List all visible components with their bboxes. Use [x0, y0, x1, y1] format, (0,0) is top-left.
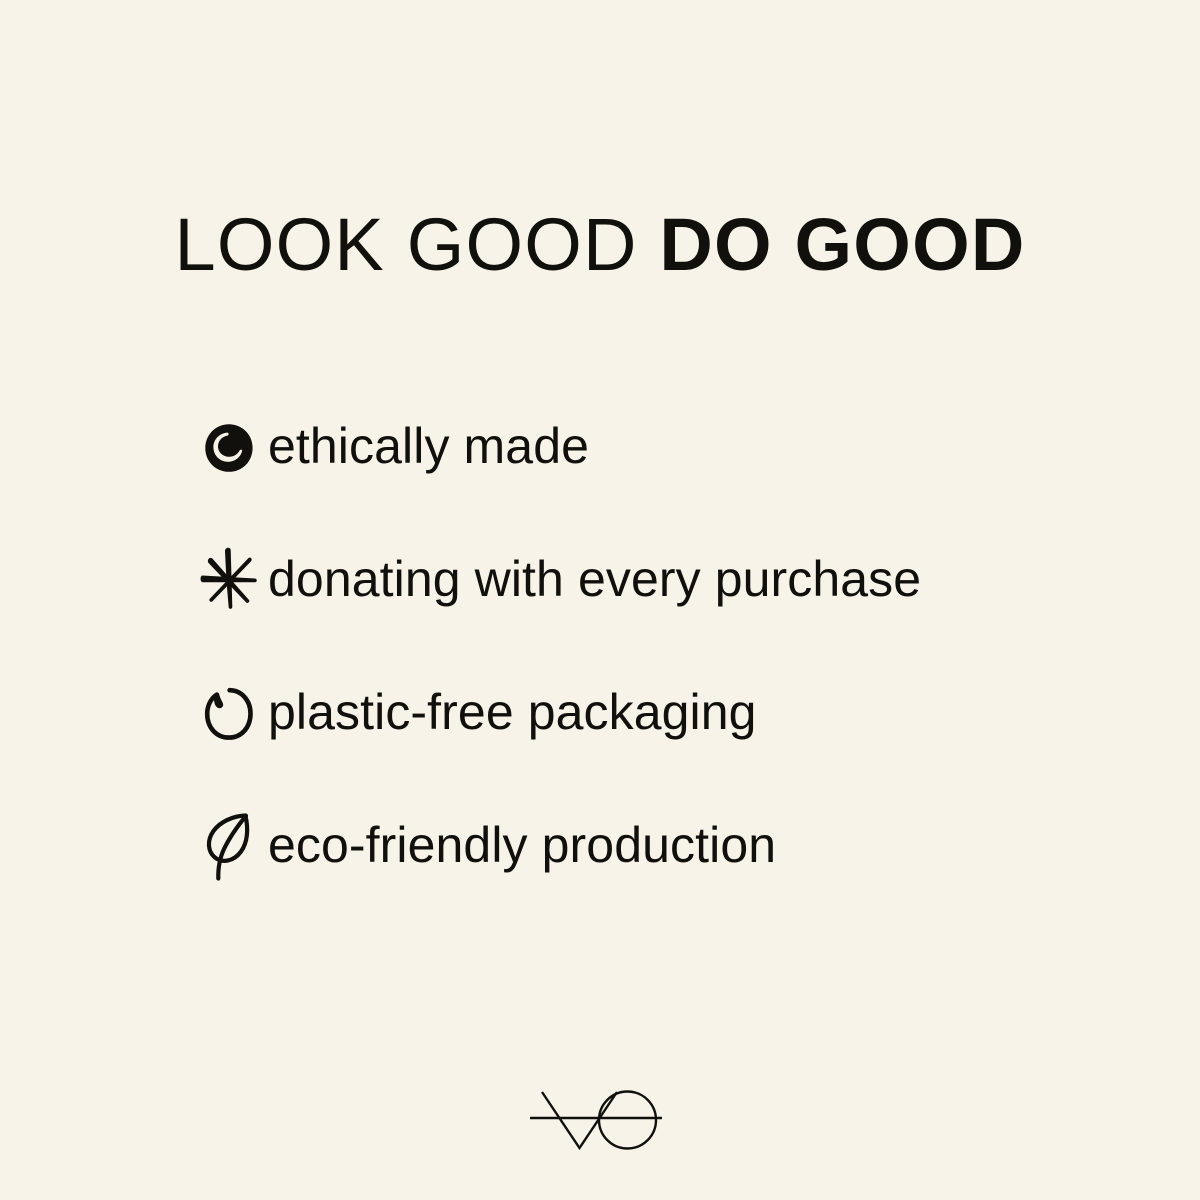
- poster-canvas: LOOK GOOD DO GOOD ethically made: [0, 0, 1200, 1200]
- list-item-label: donating with every purchase: [268, 541, 921, 617]
- vo-monogram-logo: [0, 1082, 1200, 1156]
- list-item-label: plastic-free packaging: [268, 674, 757, 750]
- list-item-label: ethically made: [268, 408, 589, 484]
- asterisk-star-icon: [190, 543, 268, 619]
- open-circle-icon: [190, 676, 268, 752]
- list-item: plastic-free packaging: [190, 674, 1150, 807]
- swirl-circle-icon: [190, 410, 268, 486]
- list-item: eco-friendly production: [190, 807, 1150, 940]
- feature-list: ethically made donat: [190, 408, 1150, 940]
- list-item-label: eco-friendly production: [268, 807, 776, 883]
- list-item: ethically made: [190, 408, 1150, 541]
- leaf-icon: [190, 809, 268, 885]
- page-title-light: LOOK GOOD: [175, 203, 638, 286]
- page-title: LOOK GOOD DO GOOD: [0, 208, 1200, 282]
- list-item: donating with every purchase: [190, 541, 1150, 674]
- page-title-bold: DO GOOD: [659, 203, 1025, 286]
